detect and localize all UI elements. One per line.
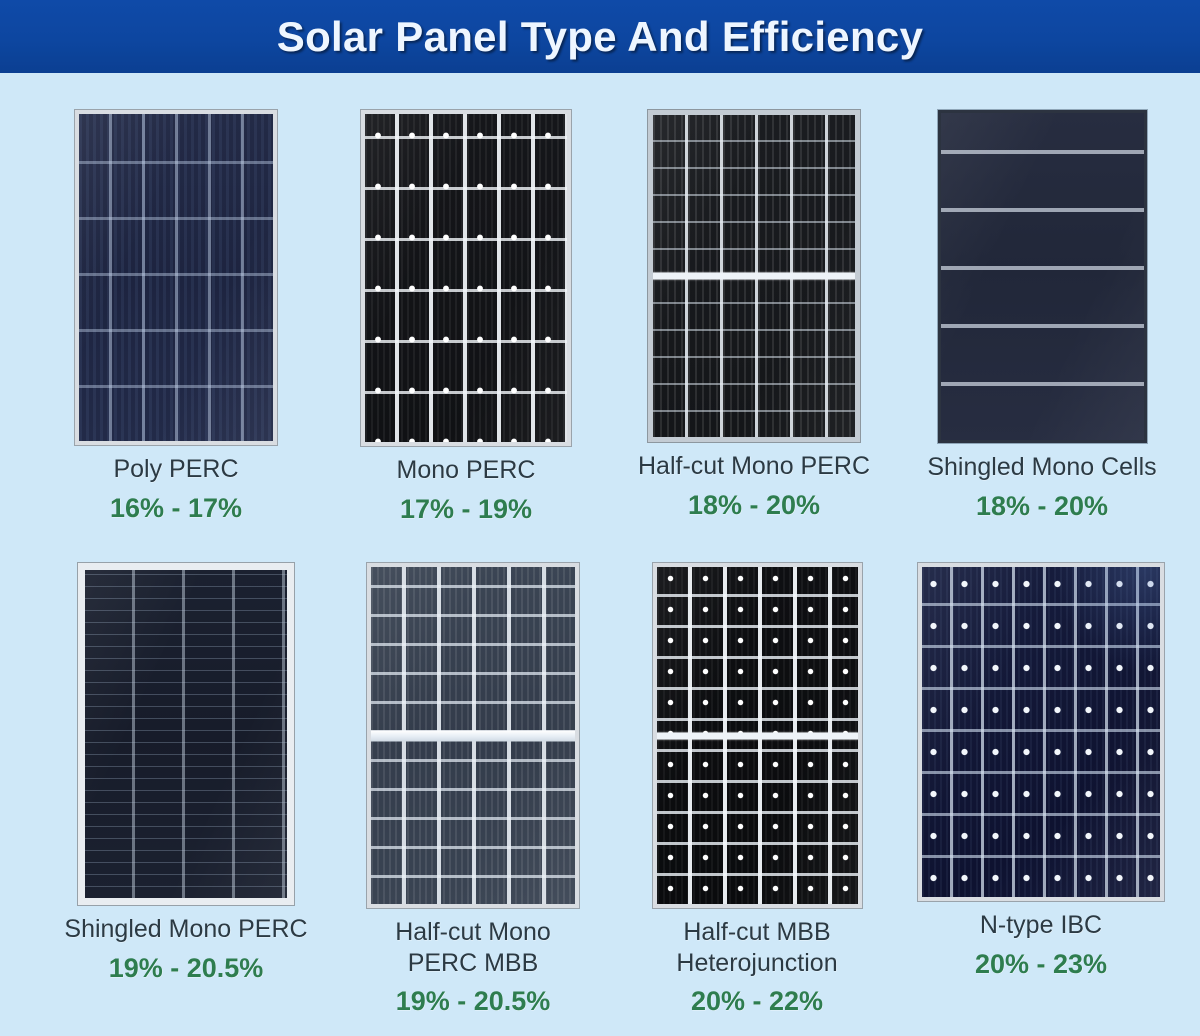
solar-panel-infographic: Solar Panel Type And Efficiency Poly PER… [0,0,1200,1036]
busbar-dots [922,567,1160,897]
cell-grid [85,570,287,898]
center-busbar [653,273,855,280]
panel-image-half-cut-mono-perc [648,110,860,442]
panel-efficiency-half-cut-mono-perc-mbb: 19% - 20.5% [396,985,551,1017]
panel-efficiency-shingled-mono-cells: 18% - 20% [976,490,1108,522]
center-busbar [657,732,858,739]
panel-card-half-cut-mono-perc-mbb: Half-cut Mono PERC MBB 19% - 20.5% [355,563,591,1017]
center-busbar [371,730,575,741]
panel-card-shingled-mono-cells: Shingled Mono Cells 18% - 20% [908,110,1176,522]
panel-efficiency-half-cut-mbb-heterojunction: 20% - 22% [691,985,823,1017]
panel-card-half-cut-mbb-heterojunction: Half-cut MBB Heterojunction 20% - 22% [650,563,864,1017]
busbar-dots [365,114,567,442]
panel-card-half-cut-mono-perc: Half-cut Mono PERC 18% - 20% [620,110,888,521]
panel-image-shingled-mono-perc [78,563,294,905]
panel-image-half-cut-mbb-heterojunction [653,563,862,908]
panel-image-shingled-mono-cells [938,110,1147,443]
panel-image-mono-perc [361,110,571,446]
panel-efficiency-shingled-mono-perc: 19% - 20.5% [109,952,264,984]
panel-image-n-type-ibc [918,563,1164,901]
panel-label-half-cut-mbb-heterojunction: Half-cut MBB Heterojunction [676,917,837,978]
page-title: Solar Panel Type And Efficiency [277,13,923,61]
panel-efficiency-half-cut-mono-perc: 18% - 20% [688,489,820,521]
panel-image-poly-perc [75,110,277,445]
panel-label-half-cut-mono-perc-mbb: Half-cut Mono PERC MBB [395,917,551,978]
cell-grid [941,113,1144,440]
panel-efficiency-mono-perc: 17% - 19% [400,493,532,525]
cell-grid [79,114,273,441]
panel-efficiency-poly-perc: 16% - 17% [110,492,242,524]
header-bar: Solar Panel Type And Efficiency [0,0,1200,73]
panel-label-n-type-ibc: N-type IBC [980,910,1102,941]
panel-efficiency-n-type-ibc: 20% - 23% [975,948,1107,980]
panel-image-half-cut-mono-perc-mbb [367,563,579,908]
panel-card-poly-perc: Poly PERC 16% - 17% [60,110,292,524]
panel-card-shingled-mono-perc: Shingled Mono PERC 19% - 20.5% [46,563,326,984]
panel-card-mono-perc: Mono PERC 17% - 19% [350,110,582,525]
panel-label-half-cut-mono-perc: Half-cut Mono PERC [638,451,870,482]
panel-label-poly-perc: Poly PERC [113,454,238,485]
panel-label-shingled-mono-perc: Shingled Mono PERC [64,914,307,945]
panel-card-n-type-ibc: N-type IBC 20% - 23% [918,563,1164,980]
panel-label-mono-perc: Mono PERC [397,455,536,486]
panel-label-shingled-mono-cells: Shingled Mono Cells [927,452,1156,483]
